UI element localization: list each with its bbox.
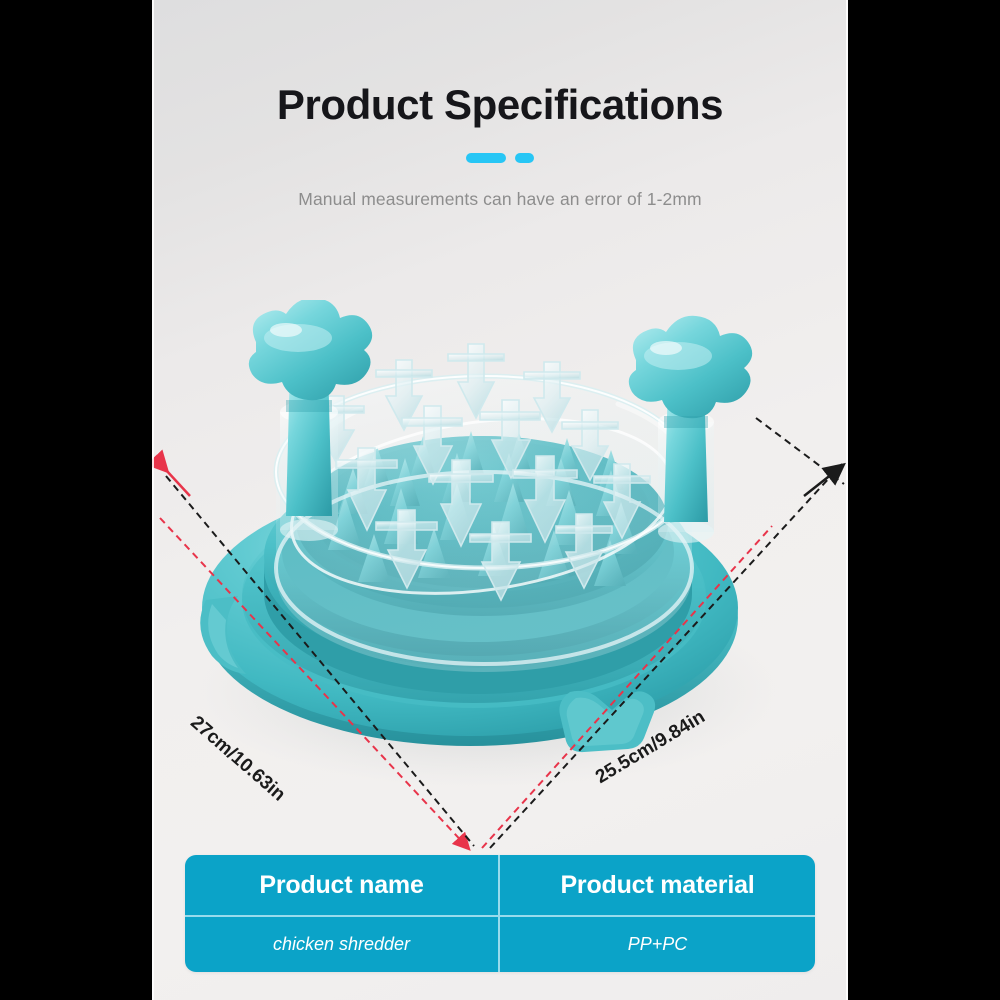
page-title: Product Specifications: [152, 84, 848, 126]
screenshot-canvas: Product Specifications Manual measuremen…: [0, 0, 1000, 1000]
spec-table: Product name Product material chicken sh…: [185, 855, 815, 972]
spec-table-header-row: Product name Product material: [185, 855, 815, 915]
product-spec-page: Product Specifications Manual measuremen…: [152, 0, 848, 1000]
spec-header-product-name: Product name: [185, 855, 500, 915]
spec-value-product-material: PP+PC: [500, 917, 815, 972]
accent-divider: [152, 152, 848, 163]
product-photo: 27cm/10.63in 25.5cm/9.84in: [152, 300, 848, 860]
page-edge-right: [846, 0, 848, 1000]
divider-dash-short-icon: [515, 153, 534, 163]
dimension-line-depth-a: [166, 476, 474, 846]
spec-header-product-material: Product material: [500, 855, 815, 915]
page-subtitle: Manual measurements can have an error of…: [152, 189, 848, 210]
divider-dash-long-icon: [466, 153, 506, 163]
dimension-line-width: [160, 518, 468, 848]
page-header: Product Specifications Manual measuremen…: [152, 0, 848, 210]
page-edge-left: [152, 0, 154, 1000]
spec-table-value-row: chicken shredder PP+PC: [185, 915, 815, 972]
letterbox-bar-right: [848, 0, 1000, 1000]
dimension-line-depth: [490, 464, 842, 848]
letterbox-bar-left: [0, 0, 152, 1000]
spec-value-product-name: chicken shredder: [185, 917, 500, 972]
